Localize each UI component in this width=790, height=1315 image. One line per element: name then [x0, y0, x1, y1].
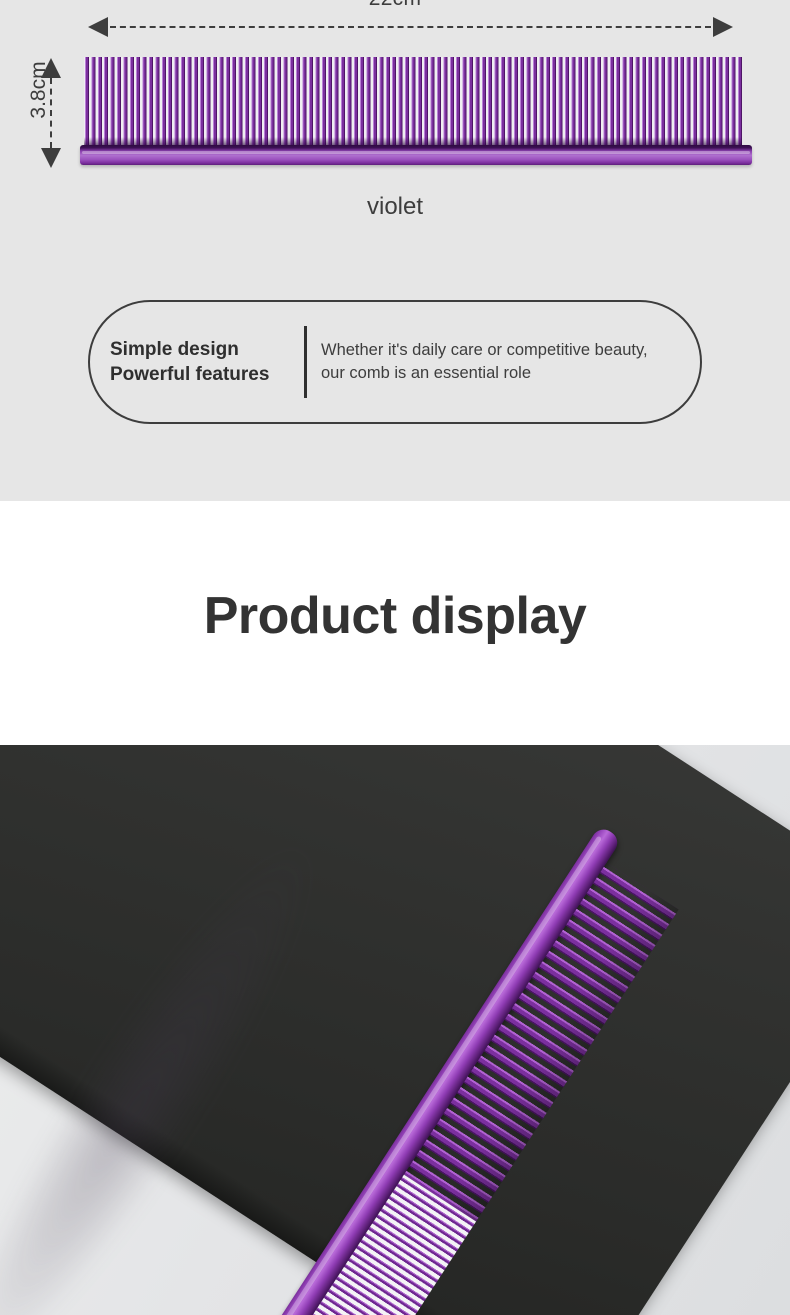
width-dimension-label: 22cm	[0, 0, 790, 11]
product-photo-section: DM-2238violet1/2 dense teeth105 teeth22c…	[0, 745, 790, 1315]
height-dimension-arrow	[50, 58, 52, 168]
feature-description: Whether it's daily care or competitive b…	[321, 339, 654, 386]
arrow-down-icon	[41, 148, 61, 168]
feature-description-line1: Whether it's daily care or competitive b…	[321, 339, 648, 362]
feature-description-line2: our comb is an essential role	[321, 362, 648, 385]
feature-headline: Simple design Powerful features	[90, 337, 304, 387]
comb-teeth	[84, 57, 742, 147]
arrow-left-icon	[88, 17, 108, 37]
comb-side-view-illustration	[80, 57, 752, 167]
arrow-right-icon	[713, 17, 733, 37]
dashed-line-vertical	[50, 78, 52, 148]
feature-callout-box: Simple design Powerful features Whether …	[88, 300, 702, 424]
color-name-label: violet	[0, 193, 790, 221]
page-title: Product display	[0, 586, 790, 646]
width-dimension-arrow	[88, 26, 733, 28]
arrow-up-icon	[41, 58, 61, 78]
comb-spine	[80, 145, 752, 165]
feature-headline-line1: Simple design	[110, 337, 304, 362]
dashed-line	[110, 26, 711, 28]
product-display-band: Product display	[0, 501, 790, 745]
spec-diagram-section: 22cm 3.8cm violet Simple design Powerful…	[0, 0, 790, 501]
product-detail-page: 22cm 3.8cm violet Simple design Powerful…	[0, 0, 790, 1315]
vertical-divider	[304, 326, 307, 398]
feature-headline-line2: Powerful features	[110, 362, 304, 387]
